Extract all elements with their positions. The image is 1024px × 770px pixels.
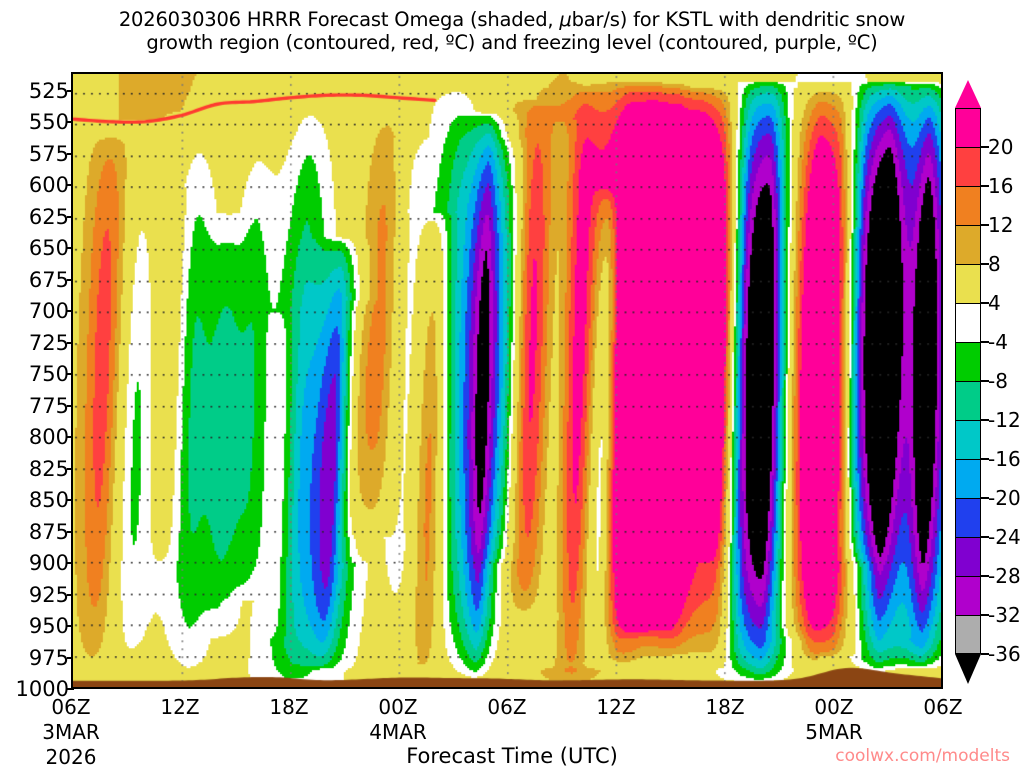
colorbar-tick: [981, 575, 989, 577]
y-axis-label: 600: [29, 173, 69, 197]
x-axis-tick-group: 12Z: [160, 695, 199, 720]
x-axis-time: 00Z: [378, 695, 417, 719]
title-line1: 2026030306 HRRR Forecast Omega (shaded, …: [119, 8, 905, 31]
colorbar-tick: [981, 146, 989, 148]
colorbar-band: [955, 186, 981, 225]
colorbar-tick: [981, 302, 989, 304]
colorbar-band: [955, 537, 981, 576]
colorbar-label: -20: [988, 486, 1021, 510]
colorbar-band: [955, 615, 981, 654]
colorbar-band: [955, 381, 981, 420]
x-axis-date: 5MAR: [805, 720, 863, 745]
x-axis-tick-group: 12Z: [596, 695, 635, 720]
x-axis-tick-group: 06Z: [487, 695, 526, 720]
x-axis-tick-group: 06Z: [923, 695, 962, 720]
watermark: coolwx.com/modelts: [835, 746, 1010, 766]
colorbar-tick: [981, 653, 989, 655]
colorbar-tick: [981, 185, 989, 187]
y-axis: 5255505756006256506757007257507758008258…: [0, 72, 69, 689]
colorbar-tick: [981, 458, 989, 460]
colorbar-band: [955, 303, 981, 342]
colorbar-over-arrow: [955, 80, 981, 108]
x-axis-tick-group: 00Z4MAR: [369, 695, 427, 745]
colorbar-tick: [981, 263, 989, 265]
colorbar-label: -32: [988, 603, 1021, 627]
y-axis-label: 675: [29, 268, 69, 292]
y-axis-label: 950: [29, 614, 69, 638]
colorbar-label: -12: [988, 408, 1021, 432]
colorbar-label: 4: [988, 291, 1001, 315]
colorbar-band: [955, 108, 981, 147]
y-axis-label: 550: [29, 110, 69, 134]
y-axis-label: 575: [29, 142, 69, 166]
colorbar-label: 12: [988, 213, 1013, 237]
y-axis-label: 750: [29, 362, 69, 386]
colorbar-band: [955, 576, 981, 615]
colorbar-tick: [981, 497, 989, 499]
colorbar-label: 20: [988, 135, 1013, 159]
colorbar-band: [955, 342, 981, 381]
y-axis-label: 825: [29, 457, 69, 481]
plot-area[interactable]: [71, 72, 943, 689]
x-axis-tick-group: 18Z: [269, 695, 308, 720]
colorbar-band: [955, 420, 981, 459]
y-axis-label: 900: [29, 551, 69, 575]
x-axis-time: 12Z: [596, 695, 635, 719]
colorbar-label: -16: [988, 447, 1021, 471]
y-axis-label: 525: [29, 79, 69, 103]
colorbar-tick: [981, 341, 989, 343]
colorbar-label: -24: [988, 525, 1021, 549]
colorbar-tick: [981, 419, 989, 421]
colorbar-tick: [981, 224, 989, 226]
y-axis-label: 925: [29, 583, 69, 607]
x-axis-time: 06Z: [923, 695, 962, 719]
y-axis-label: 700: [29, 299, 69, 323]
x-axis-date: 4MAR: [369, 720, 427, 745]
title-line2: growth region (contoured, red, ºC) and f…: [0, 31, 1024, 54]
x-axis-time: 12Z: [160, 695, 199, 719]
colorbar-band: [955, 225, 981, 264]
colorbar-label: -8: [988, 369, 1008, 393]
colorbar-label: -4: [988, 330, 1008, 354]
y-axis-label: 875: [29, 520, 69, 544]
colorbar-band: [955, 147, 981, 186]
colorbar-tick: [981, 614, 989, 616]
x-axis-time: 06Z: [487, 695, 526, 719]
x-axis-time: 18Z: [269, 695, 308, 719]
y-axis-label: 625: [29, 205, 69, 229]
colorbar: [955, 108, 981, 654]
colorbar-label: -36: [988, 642, 1021, 666]
y-axis-label: 775: [29, 394, 69, 418]
x-axis-tick-group: 18Z: [705, 695, 744, 720]
page-title: 2026030306 HRRR Forecast Omega (shaded, …: [0, 8, 1024, 54]
omega-shaded-field: [73, 74, 941, 687]
colorbar-tick: [981, 536, 989, 538]
x-axis-time: 18Z: [705, 695, 744, 719]
colorbar-under-arrow: [955, 654, 981, 684]
colorbar-band: [955, 264, 981, 303]
x-axis-date: 3MAR: [42, 720, 100, 745]
x-axis-tick-group: 00Z5MAR: [805, 695, 863, 745]
colorbar-label: 16: [988, 174, 1013, 198]
y-axis-label: 725: [29, 331, 69, 355]
colorbar-band: [955, 459, 981, 498]
x-axis-time: 00Z: [814, 695, 853, 719]
colorbar-band: [955, 498, 981, 537]
colorbar-label: -28: [988, 564, 1021, 588]
y-axis-label: 650: [29, 236, 69, 260]
colorbar-label: 8: [988, 252, 1001, 276]
y-axis-label: 800: [29, 425, 69, 449]
y-axis-label: 975: [29, 646, 69, 670]
x-axis-time: 06Z: [51, 695, 90, 719]
y-axis-label: 850: [29, 488, 69, 512]
colorbar-tick: [981, 380, 989, 382]
